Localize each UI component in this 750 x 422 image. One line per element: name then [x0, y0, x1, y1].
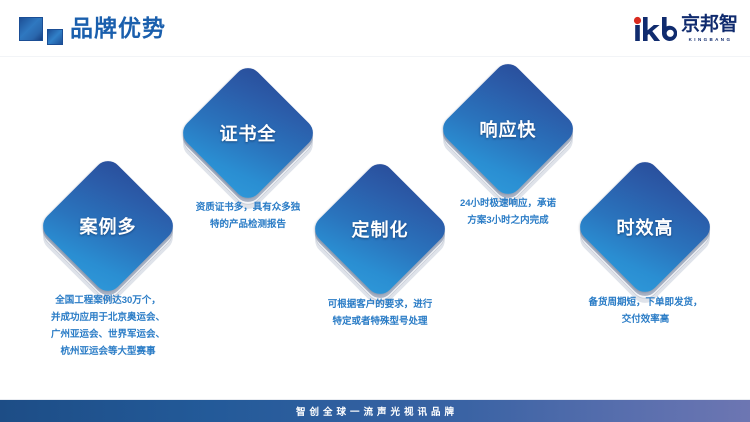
advantage-desc-1: 全国工程案例达30万个， 并成功应用于北京奥运会、 广州亚运会、世界军运会、 杭…	[8, 292, 208, 360]
advantage-label-5: 时效高	[595, 177, 695, 277]
advantage-label-2: 证书全	[198, 83, 298, 183]
page-title: 品牌优势	[70, 13, 166, 43]
page-header: 品牌优势 京邦智 KINGBANG	[0, 0, 750, 56]
blue-square-small-icon	[47, 29, 63, 45]
diamond-shape-3[interactable]: 定制化	[330, 179, 430, 279]
blue-square-large-icon	[19, 17, 43, 41]
advantage-desc-2: 资质证书多，具有众多独 特的产品检测报告	[158, 199, 338, 233]
page-footer: 智创全球一流声光视讯品牌	[0, 400, 750, 422]
diamond-shape-5[interactable]: 时效高	[595, 177, 695, 277]
company-logo: 京邦智 KINGBANG	[631, 14, 738, 44]
advantage-label-3: 定制化	[330, 179, 430, 279]
logo-wordmark: 京邦智 KINGBANG	[681, 15, 738, 43]
title-decoration	[19, 17, 67, 47]
diamond-shape-2[interactable]: 证书全	[198, 83, 298, 183]
diamond-shape-4[interactable]: 响应快	[458, 79, 558, 179]
advantage-desc-4: 24小时极速响应，承诺 方案3小时之内完成	[418, 195, 598, 229]
diamond-shape-1[interactable]: 案例多	[58, 176, 158, 276]
advantage-label-1: 案例多	[58, 176, 158, 276]
logo-brand-cn: 京邦智	[681, 15, 738, 35]
logo-brand-en: KINGBANG	[687, 36, 733, 43]
advantage-label-4: 响应快	[458, 79, 558, 179]
logo-mark-icon	[631, 15, 677, 43]
footer-slogan: 智创全球一流声光视讯品牌	[292, 404, 458, 418]
advantages-stage: 案例多 全国工程案例达30万个， 并成功应用于北京奥运会、 广州亚运会、世界军运…	[0, 56, 750, 400]
advantage-desc-5: 备货周期短，下单即发货， 交付效率高	[553, 294, 738, 328]
advantage-desc-3: 可根据客户的要求，进行 特定或者特殊型号处理	[290, 296, 470, 330]
